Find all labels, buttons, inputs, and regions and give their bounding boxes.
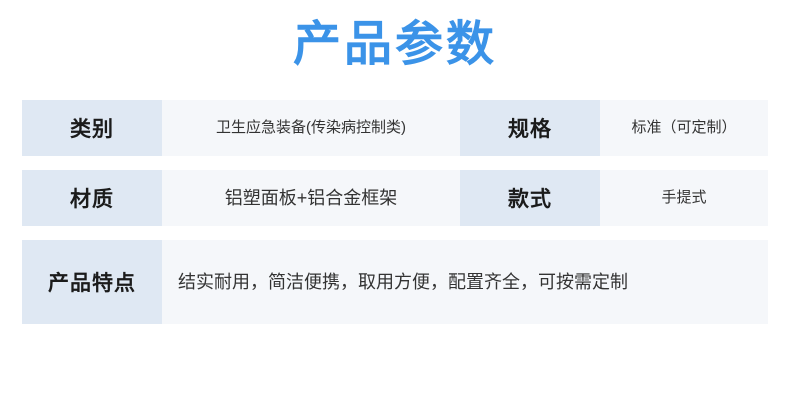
page-title: 产品参数 (0, 0, 790, 74)
row-1-label-2: 规格 (460, 100, 600, 156)
table-row: 材质 铝塑面板+铝合金框架 款式 手提式 (22, 170, 768, 226)
parameters-table: 类别 卫生应急装备(传染病控制类) 规格 标准（可定制） 材质 铝塑面板+铝合金… (22, 100, 768, 324)
row-1-label-1: 类别 (22, 100, 162, 156)
row-1-value-2: 标准（可定制） (600, 100, 768, 156)
row-2-value-2: 手提式 (600, 170, 768, 226)
row-2-value-1: 铝塑面板+铝合金框架 (162, 170, 460, 226)
table-row: 类别 卫生应急装备(传染病控制类) 规格 标准（可定制） (22, 100, 768, 156)
row-2-label-2: 款式 (460, 170, 600, 226)
row-1-value-1: 卫生应急装备(传染病控制类) (162, 100, 460, 156)
row-2-label-1: 材质 (22, 170, 162, 226)
row-3-value-1: 结实耐用，简洁便携，取用方便，配置齐全，可按需定制 (162, 240, 768, 324)
table-row: 产品特点 结实耐用，简洁便携，取用方便，配置齐全，可按需定制 (22, 240, 768, 324)
row-3-label-1: 产品特点 (22, 240, 162, 324)
product-parameters-page: 产品参数 类别 卫生应急装备(传染病控制类) 规格 标准（可定制） 材质 铝塑面… (0, 0, 790, 416)
